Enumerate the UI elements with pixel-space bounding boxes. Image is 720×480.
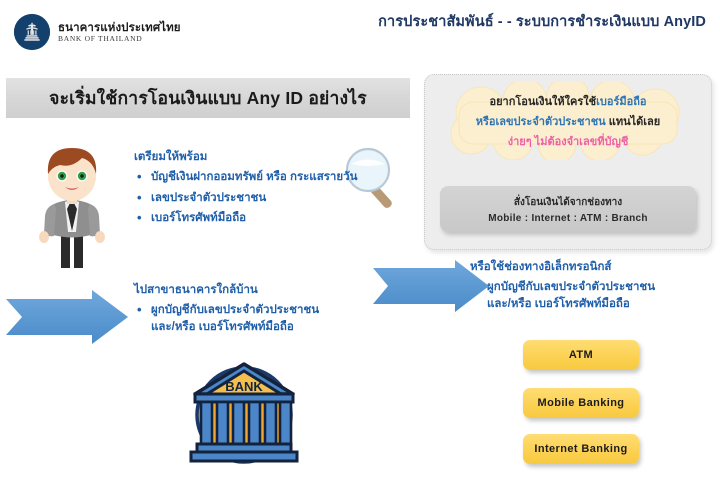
cloud-line-1-blue: เบอร์มือถือ [596, 96, 646, 108]
channel-button-atm[interactable]: ATM [523, 340, 639, 370]
list-item: บัญชีเงินฝากออมทรัพย์ หรือ กระแสรายวัน [134, 169, 409, 186]
seal-figure-icon [20, 19, 44, 45]
branch-heading: ไปสาขาธนาคารใกล้บ้าน [134, 281, 399, 299]
right-arrow-icon [4, 288, 130, 346]
right-arrow-icon [371, 258, 491, 314]
businessman-figure [24, 138, 120, 270]
prepare-heading: เตรียมให้พร้อม [134, 148, 409, 166]
bank-label: BANK [225, 379, 263, 394]
prepare-block: เตรียมให้พร้อม บัญชีเงินฝากออมทรัพย์ หรื… [134, 148, 409, 231]
bank-of-thailand-seal-icon [14, 14, 50, 50]
bank-building-shape: BANK [185, 358, 303, 468]
channel-button-label: ATM [569, 349, 593, 361]
logo-thai-name: ธนาคารแห่งประเทศไทย [58, 22, 181, 34]
channels-heading: สั่งโอนเงินได้จากช่องทาง [514, 195, 622, 210]
branch-bullet-line-1: ผูกบัญชีกับเลขประจำตัวประชาชน [151, 302, 399, 319]
electronic-block: หรือใช้ช่องทางอิเล็กทรอนิกส์ ผูกบัญชีกับ… [470, 258, 710, 316]
list-item: เบอร์โทรศัพท์มือถือ [134, 210, 409, 227]
cloud-line-2-dark: แทนได้เลย [609, 116, 660, 128]
electronic-bullet-line-1: ผูกบัญชีกับเลขประจำตัวประชาชน [487, 279, 710, 296]
channels-list: Mobile : Internet : ATM : Branch [488, 213, 648, 224]
branch-bullet-list: ผูกบัญชีกับเลขประจำตัวประชาชน และ/หรือ เ… [134, 302, 399, 335]
page-title-band: จะเริ่มใช้การโอนเงินแบบ Any ID อย่างไร [6, 78, 410, 118]
cloud-line-2-blue: หรือเลขประจำตัวประชาชน [476, 116, 606, 128]
cloud-line-3: ง่ายๆ ไม่ต้องจำเลขที่บัญชี [508, 132, 629, 150]
channel-button-mobile-banking[interactable]: Mobile Banking [523, 388, 639, 418]
cloud-callout: อยากโอนเงินให้ใครใช้เบอร์มือถือ หรือเลขป… [437, 82, 699, 160]
prepare-bullet-list: บัญชีเงินฝากออมทรัพย์ หรือ กระแสรายวัน เ… [134, 169, 409, 227]
cloud-line-1-dark: อยากโอนเงินให้ใครใช้ [489, 96, 596, 108]
cloud-line-2: หรือเลขประจำตัวประชาชน แทนได้เลย [476, 112, 661, 130]
logo-english-name: BANK OF THAILAND [58, 35, 181, 43]
channel-button-label: Internet Banking [534, 443, 627, 455]
list-item: ผูกบัญชีกับเลขประจำตัวประชาชน และ/หรือ เ… [470, 279, 710, 312]
page-title: จะเริ่มใช้การโอนเงินแบบ Any ID อย่างไร [49, 84, 367, 112]
branch-bullet-line-2: และ/หรือ เบอร์โทรศัพท์มือถือ [151, 319, 399, 336]
arrow-shape [371, 258, 491, 314]
logo-text: ธนาคารแห่งประเทศไทย BANK OF THAILAND [58, 22, 181, 43]
transfer-channels-box: สั่งโอนเงินได้จากช่องทาง Mobile : Intern… [440, 186, 696, 232]
channel-button-internet-banking[interactable]: Internet Banking [523, 434, 639, 464]
businessman-character-icon [24, 138, 120, 270]
electronic-bullet-line-2: และ/หรือ เบอร์โทรศัพท์มือถือ [487, 296, 710, 313]
arrow-shape [4, 288, 130, 346]
slide-canvas: ธนาคารแห่งประเทศไทย BANK OF THAILAND การ… [0, 0, 720, 480]
channel-button-label: Mobile Banking [538, 397, 625, 409]
bank-building-icon: BANK [185, 358, 303, 468]
list-item: ผูกบัญชีกับเลขประจำตัวประชาชน และ/หรือ เ… [134, 302, 399, 335]
header-title: การประชาสัมพันธ์ - - ระบบการชำระเงินแบบ … [378, 10, 706, 33]
branch-block: ไปสาขาธนาคารใกล้บ้าน ผูกบัญชีกับเลขประจำ… [134, 281, 399, 339]
electronic-heading: หรือใช้ช่องทางอิเล็กทรอนิกส์ [470, 258, 710, 276]
cloud-line-1: อยากโอนเงินให้ใครใช้เบอร์มือถือ [489, 92, 646, 110]
electronic-bullet-list: ผูกบัญชีกับเลขประจำตัวประชาชน และ/หรือ เ… [470, 279, 710, 312]
bank-of-thailand-logo: ธนาคารแห่งประเทศไทย BANK OF THAILAND [14, 14, 181, 50]
cloud-text: อยากโอนเงินให้ใครใช้เบอร์มือถือ หรือเลขป… [437, 82, 699, 160]
list-item: เลขประจำตัวประชาชน [134, 190, 409, 207]
